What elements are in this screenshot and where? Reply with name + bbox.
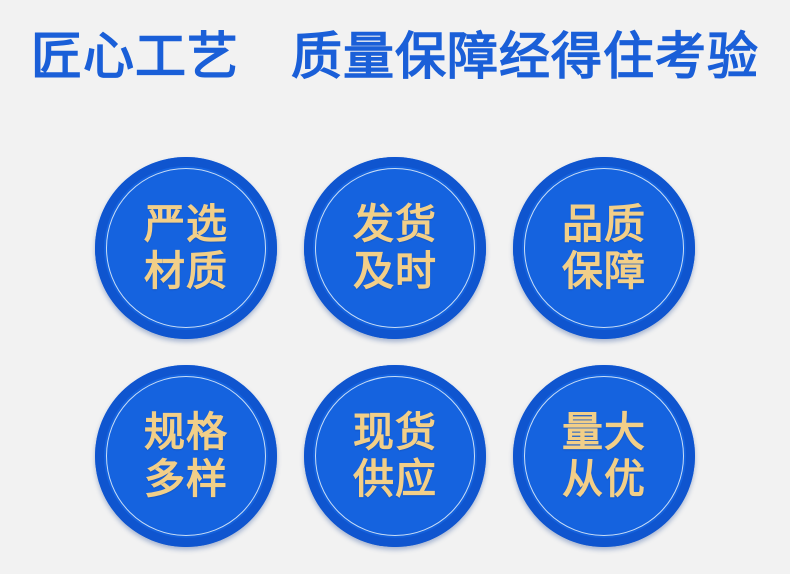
- feature-badge-label-line2: 及时: [353, 248, 437, 295]
- feature-badge-label-line1: 规格: [144, 409, 228, 456]
- feature-badge-bulk-discount[interactable]: 量大 从优: [513, 365, 695, 547]
- feature-badge-quality[interactable]: 品质 保障: [513, 157, 695, 339]
- feature-badge-label: 品质 保障: [562, 201, 646, 295]
- feature-badge-label: 发货 及时: [353, 201, 437, 295]
- feature-badge-label-line1: 严选: [144, 201, 228, 248]
- feature-badge-label-line1: 发货: [353, 201, 437, 248]
- promo-banner: 匠心工艺 质量保障经得住考验 严选 材质 发货 及时 品质 保障 规格 多样: [0, 0, 790, 574]
- feature-badge-specifications[interactable]: 规格 多样: [95, 365, 277, 547]
- feature-badge-label: 现货 供应: [353, 409, 437, 503]
- feature-badge-label: 规格 多样: [144, 409, 228, 503]
- feature-badge-label: 严选 材质: [144, 201, 228, 295]
- page-title: 匠心工艺 质量保障经得住考验: [0, 26, 790, 90]
- feature-badge-label-line2: 材质: [144, 248, 228, 295]
- feature-badge-label-line1: 量大: [562, 409, 646, 456]
- feature-badge-material[interactable]: 严选 材质: [95, 157, 277, 339]
- feature-badge-label: 量大 从优: [562, 409, 646, 503]
- feature-badge-stock[interactable]: 现货 供应: [304, 365, 486, 547]
- feature-badge-label-line1: 品质: [562, 201, 646, 248]
- feature-badge-label-line2: 保障: [562, 248, 646, 295]
- feature-badge-shipping[interactable]: 发货 及时: [304, 157, 486, 339]
- feature-badge-label-line2: 从优: [562, 456, 646, 503]
- feature-badge-label-line2: 多样: [144, 456, 228, 503]
- feature-badge-label-line1: 现货: [353, 409, 437, 456]
- feature-badge-label-line2: 供应: [353, 456, 437, 503]
- feature-badge-grid: 严选 材质 发货 及时 品质 保障 规格 多样 现货 供: [95, 157, 695, 551]
